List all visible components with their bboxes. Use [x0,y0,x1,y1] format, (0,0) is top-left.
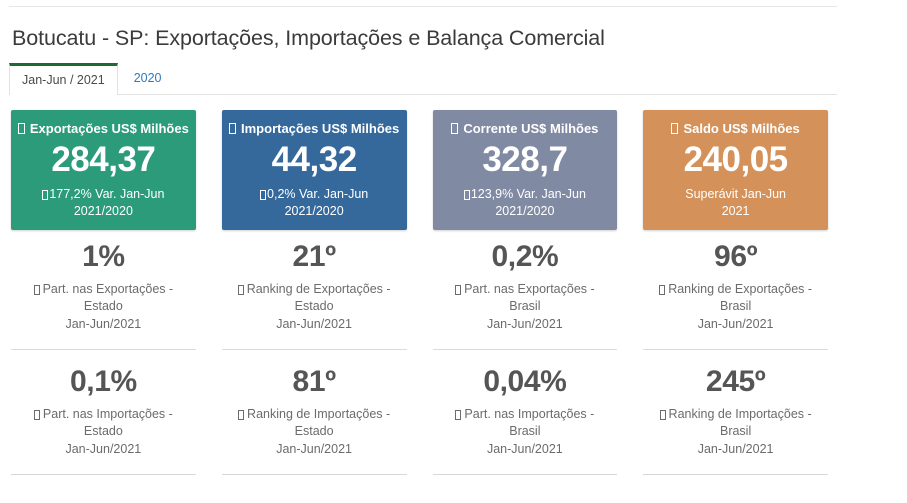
stat-label-line2: Brasil [509,423,540,440]
period-tab-bar: Jan-Jun / 2021 2020 [9,63,837,95]
stat-label-line2: Brasil [509,298,540,315]
kpi-card-row: Exportações US$ Milhões 284,37 177,2% Va… [11,110,828,230]
stat-label: Part. nas Importações - Brasil Jan-Jun/2… [455,406,594,458]
stat-ranking-importacoes-brasil: 245º Ranking de Importações - Brasil Jan… [643,365,828,475]
kpi-sub-line1: 0,2% Var. Jan-Jun [267,186,368,203]
stat-label: Ranking de Importações - Estado Jan-Jun/… [238,406,390,458]
stat-value: 21º [293,240,336,273]
missing-glyph-box-icon [34,285,40,295]
missing-glyph-box-icon [671,123,678,134]
page-title: Botucatu - SP: Exportações, Importações … [12,26,605,51]
kpi-subtext: 177,2% Var. Jan-Jun 2021/2020 [42,186,164,220]
stat-label-line3: Jan-Jun/2021 [698,316,774,333]
stat-label-line3: Jan-Jun/2021 [487,316,563,333]
stat-value: 0,2% [491,240,558,273]
stat-value: 245º [706,365,765,398]
stat-label-line3: Jan-Jun/2021 [698,441,774,458]
tab-jan-jun-2021[interactable]: Jan-Jun / 2021 [9,63,118,95]
kpi-card-exportacoes: Exportações US$ Milhões 284,37 177,2% Va… [11,110,196,230]
kpi-heading: Importações US$ Milhões [229,121,399,137]
kpi-value: 328,7 [482,141,567,180]
stat-label-line1: Part. nas Importações - [464,406,594,423]
kpi-sub-line2: 2021 [722,203,750,220]
stat-row-exportacoes: 1% Part. nas Exportações - Estado Jan-Ju… [11,240,828,350]
stat-label-line1: Ranking de Importações - [669,406,812,423]
stat-label-line3: Jan-Jun/2021 [65,441,141,458]
missing-glyph-box-icon [260,190,266,200]
stat-label-line1: Part. nas Exportações - [464,281,595,298]
stat-label: Part. nas Exportações - Brasil Jan-Jun/2… [455,281,595,333]
stat-label-line1: Part. nas Exportações - [43,281,174,298]
missing-glyph-box-icon [455,410,461,420]
tab-label: Jan-Jun / 2021 [22,74,105,87]
stat-label-line2: Estado [84,298,123,315]
kpi-heading: Saldo US$ Milhões [671,121,799,137]
kpi-sub-line2: 2021/2020 [74,203,133,220]
missing-glyph-box-icon [659,285,665,295]
stat-ranking-importacoes-estado: 81º Ranking de Importações - Estado Jan-… [222,365,407,475]
missing-glyph-box-icon [464,190,470,200]
kpi-heading-label: Saldo US$ Milhões [683,121,799,137]
stat-label-line1: Ranking de Exportações - [668,281,812,298]
stat-value: 96º [714,240,757,273]
stat-label: Ranking de Exportações - Brasil Jan-Jun/… [659,281,812,333]
kpi-card-saldo: Saldo US$ Milhões 240,05 Superávit Jan-J… [643,110,828,230]
kpi-value: 44,32 [272,141,357,180]
kpi-sub-line1: 177,2% Var. Jan-Jun [49,186,164,203]
stat-value: 1% [82,240,125,273]
kpi-subtext: 123,9% Var. Jan-Jun 2021/2020 [464,186,586,220]
kpi-heading: Corrente US$ Milhões [451,121,598,137]
stat-part-importacoes-brasil: 0,04% Part. nas Importações - Brasil Jan… [433,365,618,475]
kpi-heading-label: Importações US$ Milhões [241,121,399,137]
kpi-value: 284,37 [51,141,155,180]
top-divider [9,6,837,7]
stat-label-line2: Estado [295,423,334,440]
dashboard-page: Botucatu - SP: Exportações, Importações … [0,0,907,503]
stat-ranking-exportacoes-estado: 21º Ranking de Exportações - Estado Jan-… [222,240,407,350]
kpi-heading: Exportações US$ Milhões [18,121,189,137]
missing-glyph-box-icon [34,410,40,420]
stat-value: 81º [293,365,336,398]
kpi-subtext: Superávit Jan-Jun 2021 [685,186,786,220]
stat-label: Ranking de Exportações - Estado Jan-Jun/… [238,281,391,333]
kpi-sub-line2: 2021/2020 [285,203,344,220]
stat-label-line3: Jan-Jun/2021 [487,441,563,458]
stat-part-exportacoes-estado: 1% Part. nas Exportações - Estado Jan-Ju… [11,240,196,350]
stat-label: Part. nas Importações - Estado Jan-Jun/2… [34,406,173,458]
stat-label-line3: Jan-Jun/2021 [65,316,141,333]
kpi-heading-label: Corrente US$ Milhões [463,121,598,137]
stat-label-line1: Part. nas Importações - [43,406,173,423]
stat-value: 0,04% [483,365,566,398]
stat-label-line2: Estado [84,423,123,440]
stat-label-line3: Jan-Jun/2021 [276,441,352,458]
missing-glyph-box-icon [455,285,461,295]
stat-label-line1: Ranking de Importações - [247,406,390,423]
missing-glyph-box-icon [660,410,666,420]
kpi-card-corrente: Corrente US$ Milhões 328,7 123,9% Var. J… [433,110,618,230]
missing-glyph-box-icon [42,190,48,200]
stat-row-importacoes: 0,1% Part. nas Importações - Estado Jan-… [11,365,828,475]
stat-label-line1: Ranking de Exportações - [247,281,391,298]
stat-label: Part. nas Exportações - Estado Jan-Jun/2… [34,281,174,333]
kpi-value: 240,05 [684,141,788,180]
stat-label-line2: Estado [295,298,334,315]
kpi-subtext: 0,2% Var. Jan-Jun 2021/2020 [260,186,368,220]
stat-ranking-exportacoes-brasil: 96º Ranking de Exportações - Brasil Jan-… [643,240,828,350]
missing-glyph-box-icon [229,123,236,134]
missing-glyph-box-icon [238,410,244,420]
missing-glyph-box-icon [18,123,25,134]
kpi-sub-line2: 2021/2020 [495,203,554,220]
stat-label: Ranking de Importações - Brasil Jan-Jun/… [660,406,812,458]
stat-part-importacoes-estado: 0,1% Part. nas Importações - Estado Jan-… [11,365,196,475]
missing-glyph-box-icon [238,285,244,295]
stat-label-line2: Brasil [720,423,751,440]
kpi-card-importacoes: Importações US$ Milhões 44,32 0,2% Var. … [222,110,407,230]
kpi-sub-line1: Superávit Jan-Jun [685,186,786,203]
missing-glyph-box-icon [451,123,458,134]
kpi-sub-line1: 123,9% Var. Jan-Jun [471,186,586,203]
stat-part-exportacoes-brasil: 0,2% Part. nas Exportações - Brasil Jan-… [433,240,618,350]
stat-label-line2: Brasil [720,298,751,315]
tab-label: 2020 [134,72,162,85]
tab-2020[interactable]: 2020 [118,63,178,94]
kpi-heading-label: Exportações US$ Milhões [30,121,189,137]
stat-label-line3: Jan-Jun/2021 [276,316,352,333]
stat-value: 0,1% [70,365,137,398]
